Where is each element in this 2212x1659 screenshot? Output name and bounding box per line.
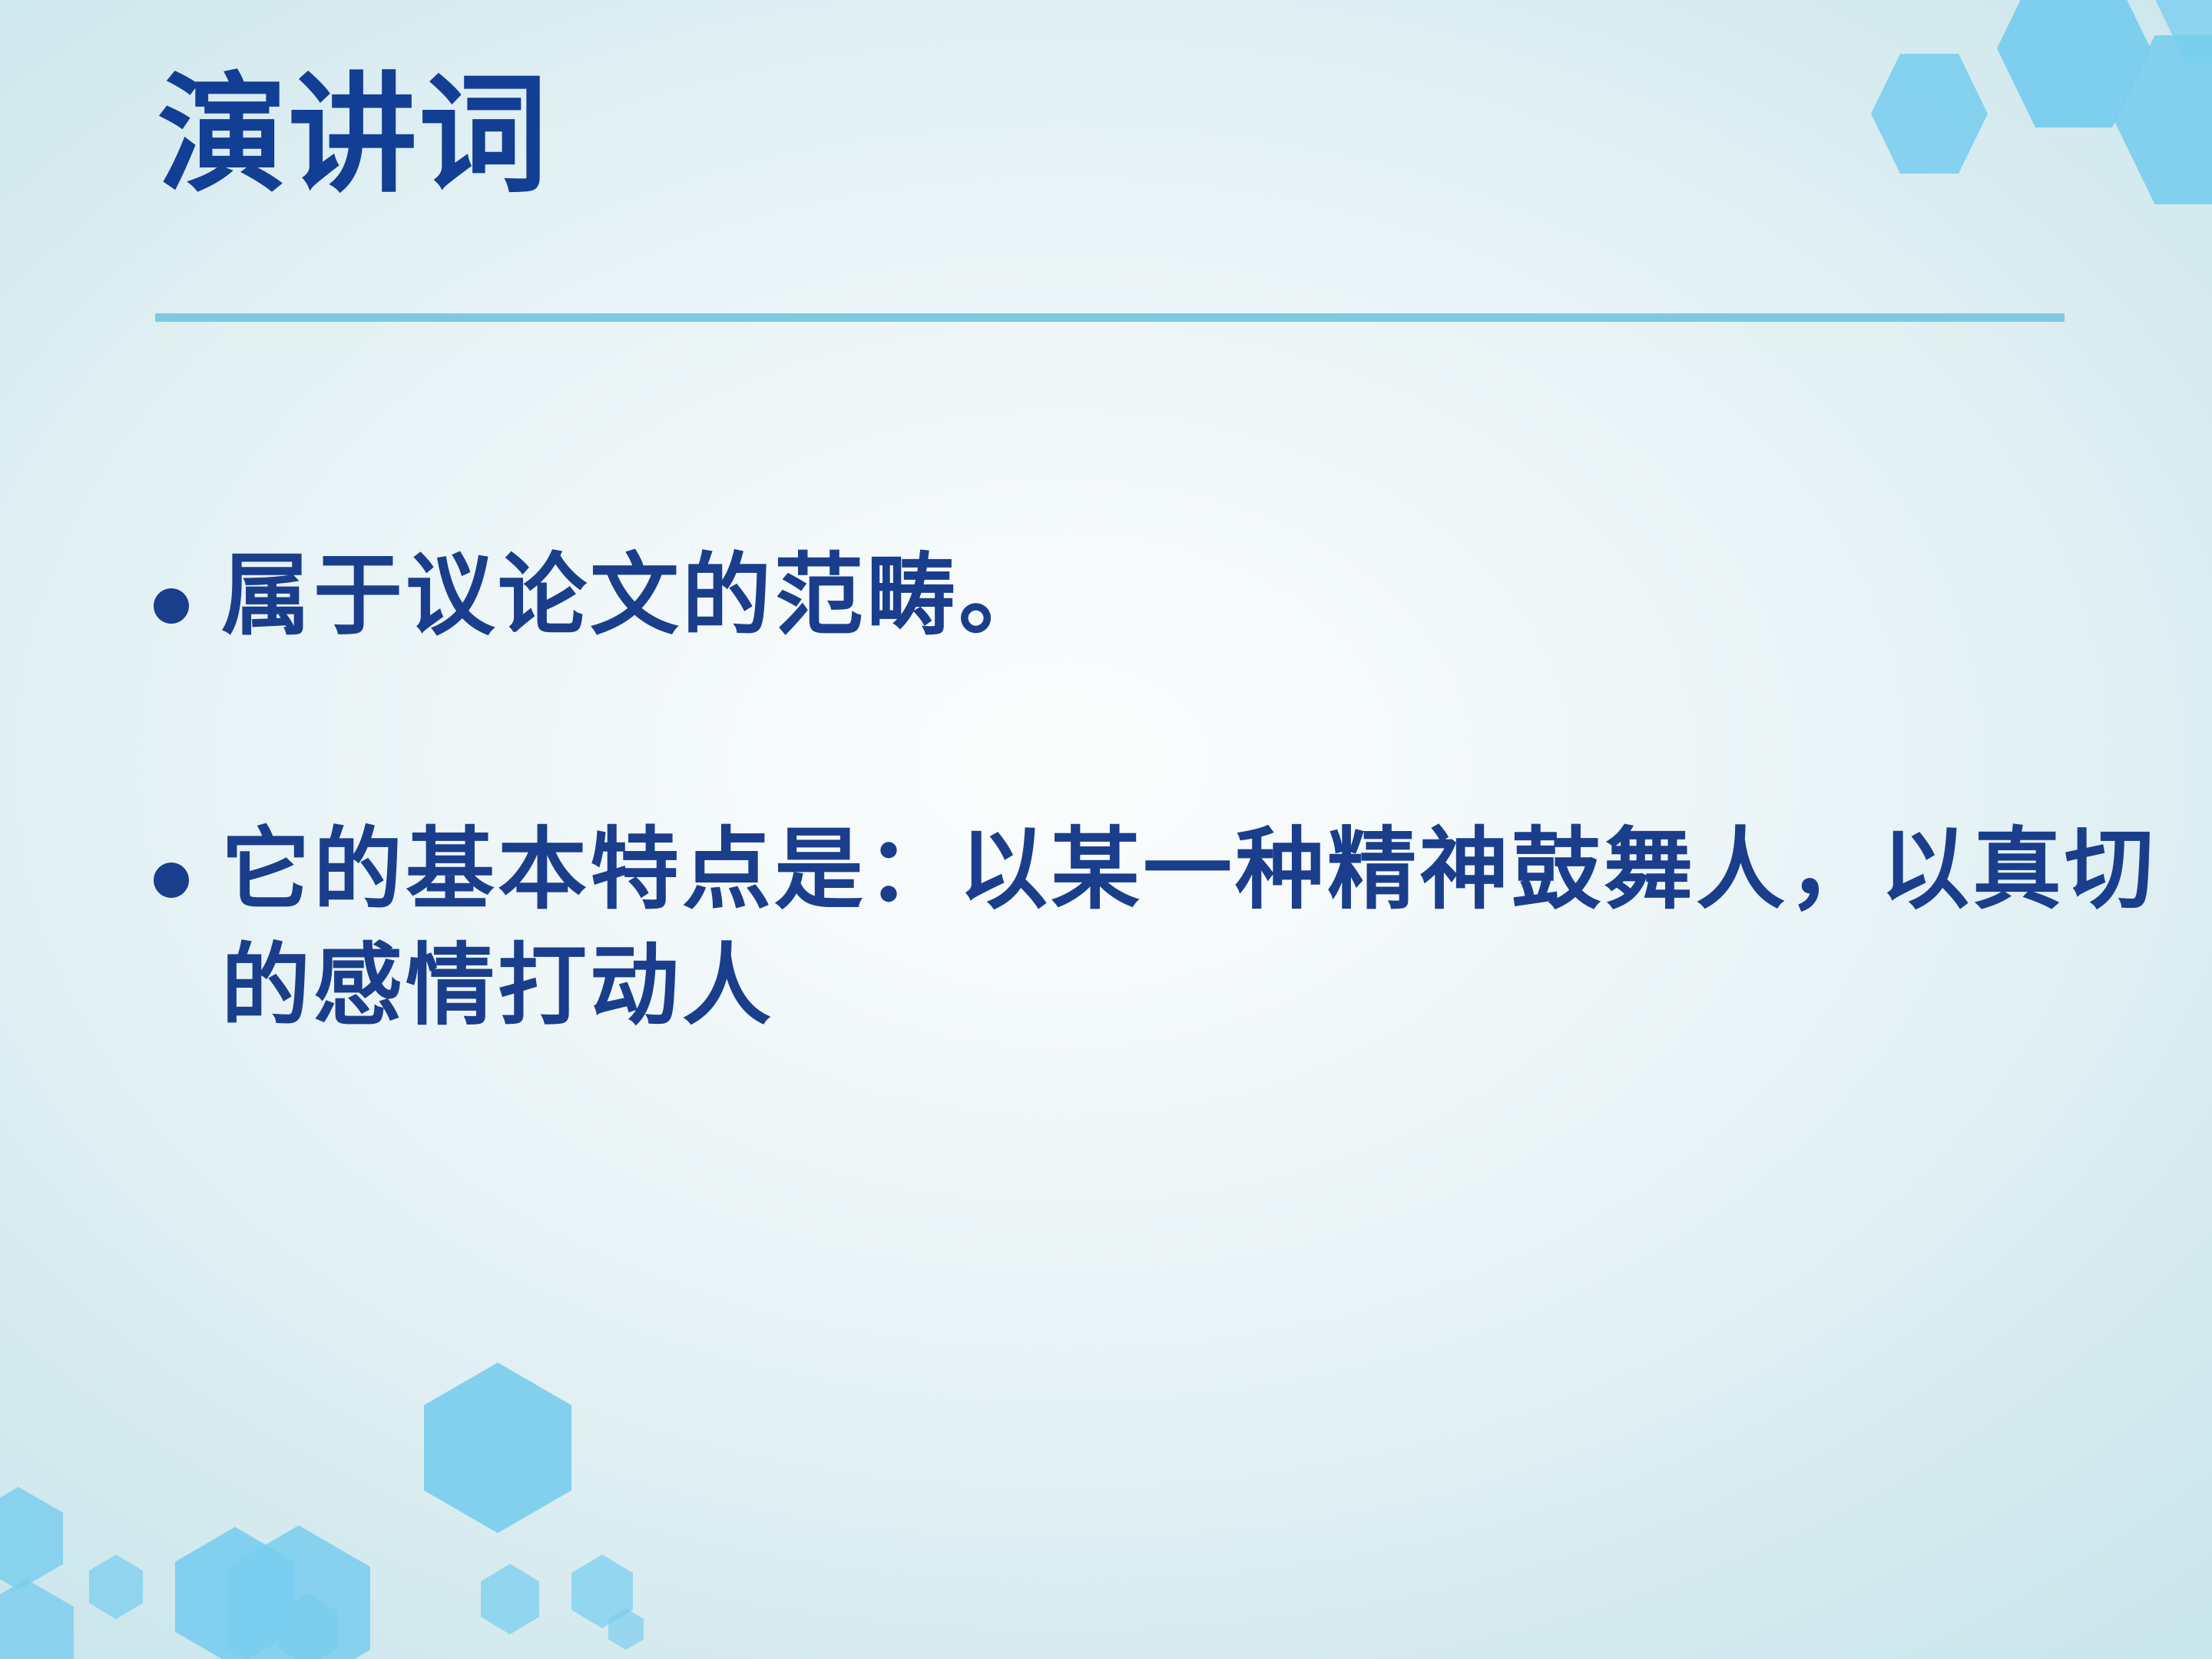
hexagon-icon (0, 1487, 63, 1590)
hexagon-icon (278, 1593, 338, 1659)
hexagon-icon (571, 1555, 633, 1628)
hexagon-icon (608, 1608, 644, 1650)
hexagon-icon (2114, 35, 2212, 204)
bullet-spacer (154, 654, 2166, 812)
slide-title: 演讲词 (157, 68, 549, 203)
bullet-text: 它的基本特点是：以某一种精神鼓舞人，以真切的感情打动人 (221, 812, 2166, 1044)
hexagon-icon (424, 1363, 571, 1533)
hexagon-icon (175, 1527, 295, 1659)
title-divider (155, 313, 2065, 322)
hexagon-icon (227, 1525, 370, 1659)
presentation-slide: 演讲词 属于议论文的范畴。 它的基本特点是：以某一种精神鼓舞人，以真切的感情打动… (0, 0, 2212, 1659)
hexagon-icon (0, 1579, 74, 1659)
slide-body: 属于议论文的范畴。 它的基本特点是：以某一种精神鼓舞人，以真切的感情打动人 (154, 538, 2166, 1043)
bullet-dot-icon (154, 863, 189, 898)
hexagon-icon (481, 1564, 539, 1634)
bullet-item: 它的基本特点是：以某一种精神鼓舞人，以真切的感情打动人 (154, 812, 2166, 1044)
hexagon-icon (1871, 54, 1988, 174)
hexagon-icon (1997, 0, 2151, 127)
hexagon-icon (2152, 0, 2212, 63)
bullet-text: 属于议论文的范畴。 (221, 538, 2166, 654)
bullet-dot-icon (154, 588, 189, 624)
bullet-item: 属于议论文的范畴。 (154, 538, 2166, 654)
hexagon-icon (89, 1555, 143, 1619)
